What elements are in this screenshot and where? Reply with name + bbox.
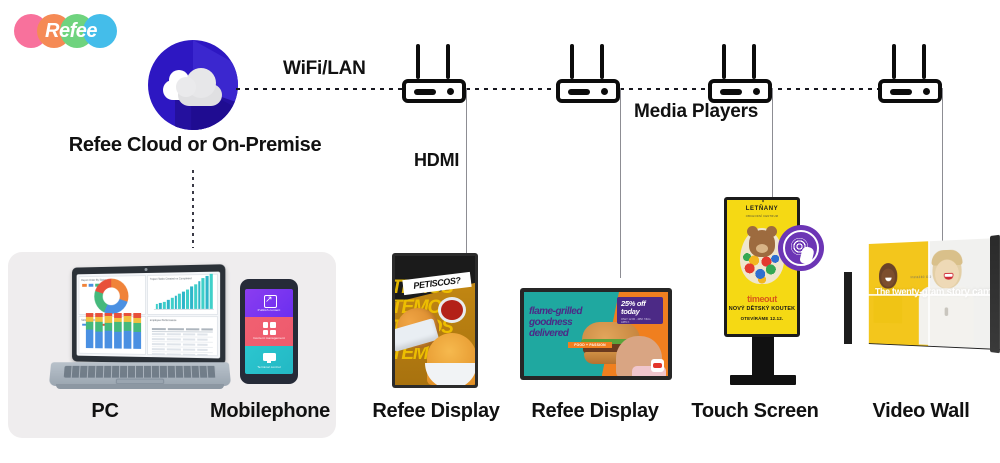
logo-wordmark: Refee [36, 19, 106, 43]
cloud-label: Refee Cloud or On-Premise [55, 134, 335, 157]
cloud-puff-large [178, 84, 222, 106]
device-refee-display-landscape[interactable]: flame-grilled goodness delivered FOOD + … [520, 288, 672, 380]
kiosk-campaign: timeout [727, 294, 797, 304]
phone-menu-label: Terminal control [257, 365, 280, 369]
hdmi-connector-2 [620, 88, 621, 278]
artwork-headline: flame-grilled goodness delivered [529, 306, 607, 339]
phone-menu-publish[interactable]: Publish content [245, 289, 293, 317]
label-refee-display-2: Refee Display [524, 400, 666, 423]
label-video-wall: Video Wall [850, 400, 992, 423]
webcam-icon [145, 268, 148, 271]
artwork-sauce-dip [441, 300, 463, 320]
cloud-to-pc-connector [192, 170, 194, 248]
artwork-offer-badge: 25% off today ONLY 12.00 - 4PM. T&Cs APP… [617, 297, 663, 324]
router-body [556, 79, 620, 103]
dashboard-card-stacked: Sales Dashboard [78, 315, 145, 355]
hdmi-connector-1 [466, 88, 467, 253]
label-mobilephone: Mobilephone [180, 400, 360, 423]
router-body [878, 79, 942, 103]
wall-left-edge [844, 272, 852, 344]
media-player-4[interactable] [878, 44, 942, 106]
wall-bezel-horizontal [869, 294, 1000, 296]
router-led-icon [447, 88, 454, 95]
kiosk-brand-sub: OBCHODNÍ CENTRUM [727, 215, 797, 218]
hdmi-label: HDMI [414, 150, 459, 171]
wifi-link-segment-4 [778, 88, 878, 90]
laptop-foot [56, 384, 224, 389]
router-body [708, 79, 772, 103]
router-body [402, 79, 466, 103]
dashboard-card-table: Employee Performance [146, 316, 218, 357]
kiosk-pole [752, 337, 774, 379]
card-title: Employee Performance [149, 319, 214, 323]
router-slot-icon [890, 89, 912, 95]
performance-table [151, 327, 212, 352]
antenna-right-icon [600, 44, 604, 79]
display-artwork: TEMOS TEMOS TEMOS TEMOS PETISCOS? [395, 256, 475, 385]
laptop-lid: Report Order By Status Project Tasks Cre… [72, 264, 225, 365]
label-refee-display-1: Refee Display [366, 400, 506, 423]
laptop-base [49, 362, 231, 386]
phone-menu-terminal-control[interactable]: Terminal control [245, 346, 293, 374]
wall-side-frame [990, 235, 1000, 354]
kiosk-artwork: ⅂ LETŇANY OBCHODNÍ CENTRUM timeout NOVÝ … [727, 200, 797, 334]
device-refee-display-portrait[interactable]: TEMOS TEMOS TEMOS TEMOS PETISCOS? [392, 253, 478, 388]
diagram-canvas: Refee Refee Cloud or On-Premise WiFi/LAN… [0, 0, 1000, 463]
media-player-1[interactable] [402, 44, 466, 106]
kiosk-base [730, 375, 796, 385]
badge-fineprint: ONLY 12.00 - 4PM. T&Cs APPLY. [621, 318, 659, 324]
phone-menu-content-management[interactable]: Content management [245, 317, 293, 345]
person-pendant [945, 307, 949, 316]
hdmi-connector-3 [772, 88, 773, 198]
phone-menu-label: Content management [253, 336, 285, 340]
wall-person-right [919, 251, 974, 345]
antenna-left-icon [570, 44, 574, 79]
smartphone-icon[interactable]: Publish content Content management Termi… [240, 279, 298, 384]
antenna-left-icon [722, 44, 726, 79]
kiosk-brand: LETŇANY [727, 206, 797, 212]
antenna-right-icon [446, 44, 450, 79]
touch-hand-icon [778, 225, 824, 271]
letnany-mark-icon: ⅂ [760, 200, 764, 204]
media-player-2[interactable] [556, 44, 620, 106]
antenna-left-icon [892, 44, 896, 79]
phone-screen: Publish content Content management Termi… [245, 289, 293, 374]
upload-icon [263, 294, 276, 307]
media-player-3[interactable] [708, 44, 772, 106]
brand-logo-icon [651, 359, 664, 372]
person-teeth [945, 274, 953, 277]
device-video-wall[interactable]: Insta360 GO The twenty-gram story cam. [848, 238, 1000, 350]
laptop-icon[interactable]: Report Order By Status Project Tasks Cre… [50, 266, 230, 401]
label-touch-screen: Touch Screen [684, 400, 826, 423]
dashboard-card-growth: Project Tasks Created vs Completed [146, 274, 218, 315]
video-wall-panels: Insta360 GO The twenty-gram story cam. [869, 238, 1000, 350]
bear-snout [756, 244, 768, 253]
wifi-link-segment-3 [620, 88, 708, 90]
antenna-right-icon [752, 44, 756, 79]
device-touch-screen[interactable]: ⅂ LETŇANY OBCHODNÍ CENTRUM timeout NOVÝ … [718, 197, 828, 392]
router-led-icon [753, 88, 760, 95]
hdmi-connector-4 [942, 88, 943, 248]
router-slot-icon [568, 89, 590, 95]
router-led-icon [923, 88, 930, 95]
growth-bar-chart [155, 273, 212, 308]
phone-menu-label: Publish content [258, 308, 281, 312]
router-slot-icon [720, 89, 742, 95]
router-slot-icon [414, 89, 436, 95]
laptop-screen: Report Order By Status Project Tasks Cre… [77, 272, 220, 359]
antenna-left-icon [416, 44, 420, 79]
wall-caption: The twenty-gram story cam. [875, 286, 998, 298]
growth-axis [153, 308, 213, 309]
monitor-icon [263, 351, 276, 364]
stacked-bar-chart [86, 313, 141, 349]
wifi-lan-label: WiFi/LAN [283, 58, 366, 80]
teddy-bear-icon [749, 230, 775, 257]
keyboard-icon [64, 366, 217, 378]
artwork-subtag: FOOD + PASSION [568, 342, 612, 348]
wifi-link-segment-1 [236, 88, 402, 90]
grid-icon [263, 322, 276, 335]
dashboard-card-donut: Report Order By Status [78, 275, 145, 314]
artwork-bowl [425, 363, 475, 385]
donut-chart [94, 278, 128, 314]
kiosk-line-1: NOVÝ DĚTSKÝ KOUTEK [727, 306, 797, 312]
label-pc: PC [52, 400, 158, 423]
antenna-right-icon [922, 44, 926, 79]
router-led-icon [601, 88, 608, 95]
display-artwork: flame-grilled goodness delivered FOOD + … [524, 292, 668, 376]
refee-logo: Refee [14, 12, 124, 50]
kiosk-line-2: OTEVÍRÁME 12.12. [727, 316, 797, 321]
cloud-icon [148, 40, 238, 130]
cloud-circle [148, 40, 238, 130]
badge-title: 25% off today [621, 300, 659, 316]
wifi-link-segment-2 [466, 88, 554, 90]
